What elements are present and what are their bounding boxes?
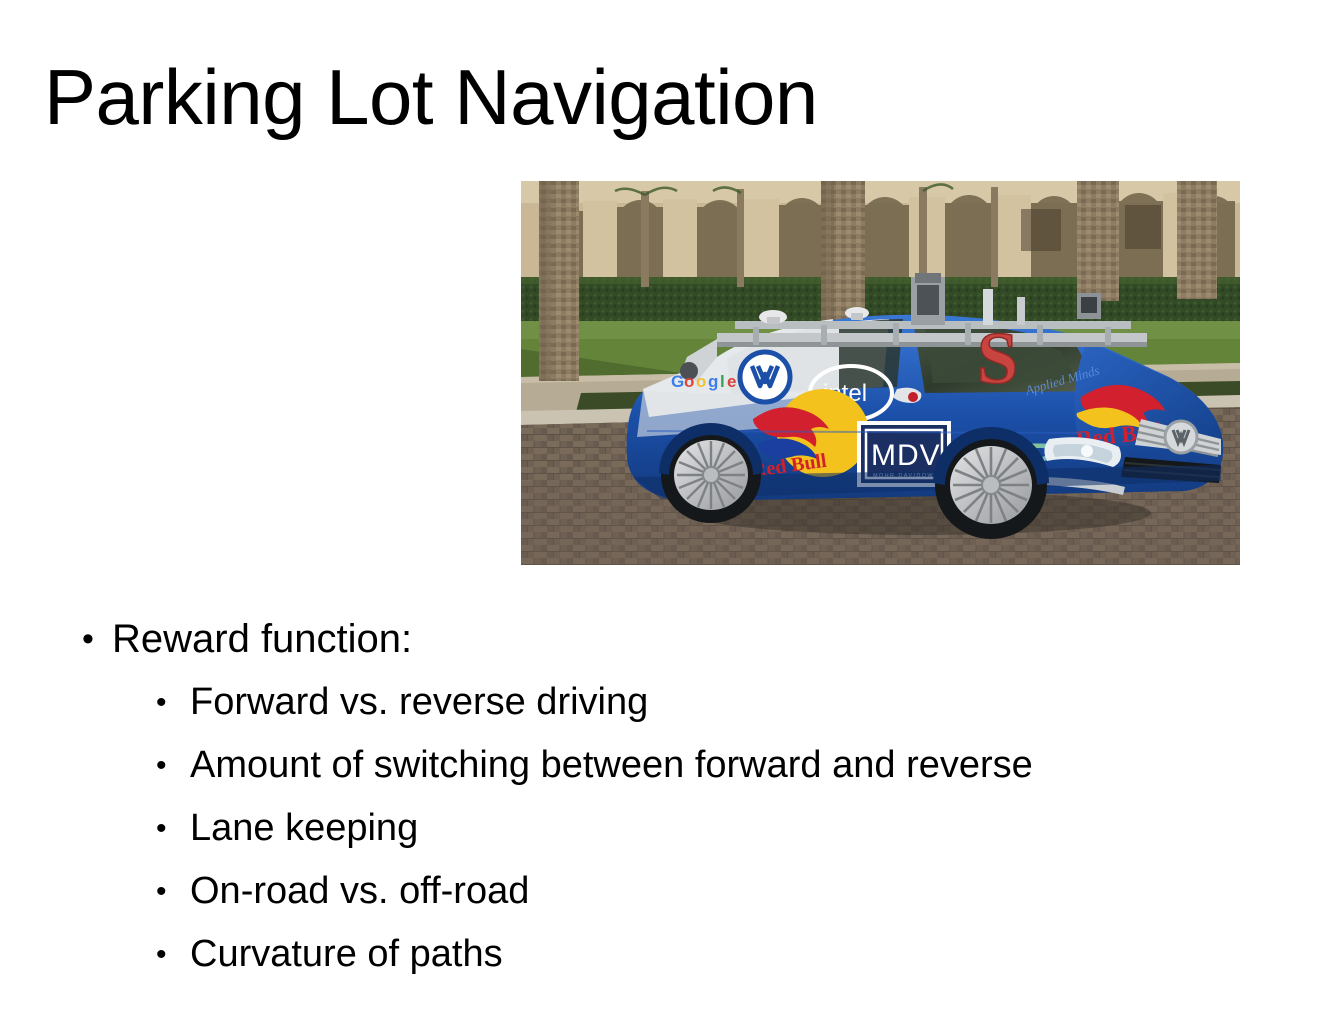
list-item-label: Amount of switching between forward and … <box>190 734 1033 797</box>
slide-canvas: Parking Lot Navigation <box>0 0 1340 1012</box>
svg-text:MDV: MDV <box>871 439 941 472</box>
list-item: • Curvature of paths <box>78 923 1298 986</box>
list-item: • Amount of switching between forward an… <box>78 734 1298 797</box>
list-item-label: Reward function: <box>112 608 412 671</box>
page-title: Parking Lot Navigation <box>44 52 818 142</box>
list-item: • Forward vs. reverse driving <box>78 671 1298 734</box>
svg-text:S: S <box>977 318 1018 400</box>
list-item: • Lane keeping <box>78 797 1298 860</box>
list-item: • On-road vs. off-road <box>78 860 1298 923</box>
list-item-label: Curvature of paths <box>190 923 503 986</box>
svg-text:o: o <box>684 372 694 391</box>
svg-text:l: l <box>720 372 725 391</box>
bullet-marker-icon: • <box>156 671 190 734</box>
list-item-label: Lane keeping <box>190 797 418 860</box>
bullet-marker-icon: • <box>156 734 190 797</box>
svg-text:G: G <box>671 372 684 391</box>
reward-function-list: • Reward function: • Forward vs. reverse… <box>78 608 1298 986</box>
vehicle-photo: G o o g l e intel <box>521 181 1240 565</box>
bullet-marker-icon: • <box>156 923 190 986</box>
bullet-marker-icon: • <box>156 860 190 923</box>
list-item-label: Forward vs. reverse driving <box>190 671 648 734</box>
svg-text:g: g <box>708 372 718 391</box>
bullet-marker-icon: • <box>82 608 112 671</box>
list-item: • Reward function: <box>78 608 1298 671</box>
svg-text:o: o <box>696 372 706 391</box>
list-item-label: On-road vs. off-road <box>190 860 529 923</box>
bullet-marker-icon: • <box>156 797 190 860</box>
svg-text:e: e <box>727 372 736 391</box>
